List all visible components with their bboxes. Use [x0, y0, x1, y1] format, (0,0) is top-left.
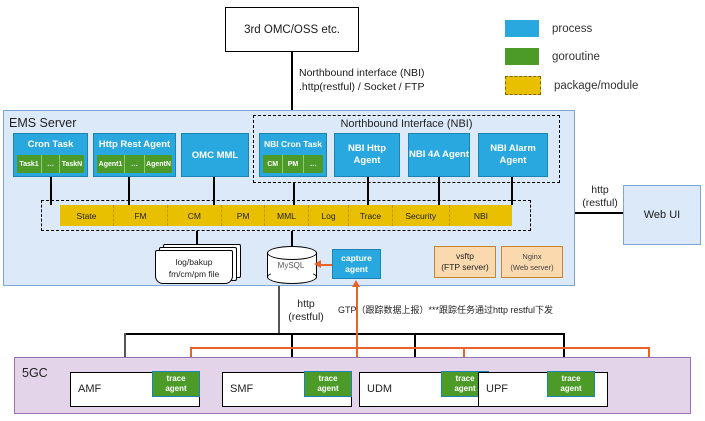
- gtp-note: GTP（跟踪数据上报）***跟踪任务通过http restful下发: [338, 303, 553, 316]
- capture-agent-line1: capture: [341, 253, 372, 264]
- module-state[interactable]: State: [60, 205, 114, 226]
- goroutine-agent1: Agent1: [97, 155, 125, 173]
- process-nbi-cron-task-label: NBI Cron Task: [260, 134, 326, 154]
- goroutine-agent-ellipsis: …: [125, 155, 145, 173]
- connector-nbi-trunk: [291, 52, 293, 111]
- nf-amf-label: AMF: [78, 383, 101, 395]
- external-omc-oss-box: 3rd OMC/OSS etc.: [225, 7, 359, 52]
- trace-agent-upf[interactable]: trace agent: [547, 371, 595, 397]
- external-omc-oss-label: 3rd OMC/OSS etc.: [244, 24, 340, 36]
- trace-agent-upf-line2: agent: [560, 384, 581, 394]
- nf-udm-label: UDM: [367, 383, 392, 395]
- module-nbi[interactable]: NBI: [450, 205, 512, 226]
- file-store-docs: log/bakup fm/cm/pm file: [155, 244, 241, 286]
- process-nbi-cron-task[interactable]: NBI Cron Task CM PM …: [259, 133, 327, 177]
- process-cron-task[interactable]: Cron Task Task1 … TaskN: [13, 133, 88, 177]
- goroutine-task-ellipsis: …: [42, 155, 60, 173]
- legend-swatch-goroutine-icon: [505, 48, 539, 65]
- goroutine-nbi-pm: PM: [283, 155, 303, 173]
- south-http-line2: (restful): [282, 311, 330, 324]
- database-label: MySQL: [267, 246, 315, 284]
- goroutine-agentn: AgentN: [145, 155, 172, 173]
- connector-http-bus: [124, 333, 564, 335]
- goroutine-taskn: TaskN: [60, 155, 84, 173]
- fivegc-title: 5GC: [22, 366, 48, 380]
- file-store-line1: log/bakup: [176, 256, 213, 268]
- module-bar: State FM CM PM MML Log Trace Security NB…: [60, 205, 512, 226]
- process-nbi-http-agent[interactable]: NBI Http Agent: [334, 133, 400, 177]
- trace-agent-amf-line2: agent: [165, 384, 186, 394]
- nf-upf-label: UPF: [486, 383, 508, 395]
- connector-http-trunk: [278, 286, 280, 334]
- module-log[interactable]: Log: [309, 205, 350, 226]
- process-nbi-4a-agent[interactable]: NBI 4A Agent: [408, 133, 470, 177]
- file-store-label: log/bakup fm/cm/pm file: [155, 253, 233, 283]
- legend-swatch-module-icon: [505, 76, 541, 95]
- server-nginx-line1: Nginx: [522, 251, 541, 262]
- south-http-label: http (restful): [282, 298, 330, 324]
- legend-item-process: process: [505, 20, 638, 37]
- process-nbi-alarm-agent-label: NBI Alarm Agent: [479, 143, 547, 167]
- nbi-note-line1: Northbound interface (NBI): [299, 66, 424, 80]
- goroutine-nbi-ellipsis: …: [304, 155, 323, 173]
- server-vsftp-line2: (FTP server): [441, 262, 489, 273]
- process-nbi-alarm-agent[interactable]: NBI Alarm Agent: [478, 133, 548, 177]
- process-capture-agent[interactable]: capture agent: [332, 249, 381, 279]
- process-nbi-4a-agent-label: NBI 4A Agent: [409, 149, 469, 161]
- connector-gtp-bus: [190, 347, 648, 349]
- trace-agent-smf-line2: agent: [317, 384, 338, 394]
- webui-link-line2: (restful): [578, 197, 622, 210]
- goroutine-nbi-cm: CM: [263, 155, 283, 173]
- nbi-group-title: Northbound Interface (NBI): [253, 116, 560, 131]
- arrow-capture-to-mysql-icon: [314, 260, 321, 268]
- webui-link-line1: http: [578, 184, 622, 197]
- nbi-note: Northbound interface (NBI) .http(restful…: [299, 66, 424, 94]
- connector-ems-to-webui: [575, 212, 623, 214]
- legend-item-module: package/module: [505, 76, 638, 95]
- legend-item-goroutine: goroutine: [505, 48, 638, 65]
- legend-label-goroutine: goroutine: [552, 51, 600, 63]
- ems-server-title: EMS Server: [9, 116, 76, 130]
- legend-swatch-process-icon: [505, 20, 539, 37]
- process-nbi-http-agent-label: NBI Http Agent: [335, 143, 399, 167]
- server-nginx-line2: (Web server): [510, 262, 553, 273]
- webui-link-label: http (restful): [578, 184, 622, 210]
- module-trace[interactable]: Trace: [349, 205, 392, 226]
- server-vsftp-line1: vsftp: [456, 251, 474, 262]
- trace-agent-udm-line2: agent: [454, 384, 475, 394]
- legend-label-module: package/module: [554, 80, 638, 92]
- module-cm[interactable]: CM: [168, 205, 222, 226]
- process-http-rest-agent[interactable]: Http Rest Agent Agent1 … AgentN: [93, 133, 176, 177]
- trace-agent-amf[interactable]: trace agent: [152, 371, 200, 397]
- module-security[interactable]: Security: [393, 205, 450, 226]
- webui-label: Web UI: [644, 209, 680, 221]
- legend: process goroutine package/module: [505, 20, 638, 95]
- file-store-line2: fm/cm/pm file: [169, 268, 220, 280]
- process-omc-mml[interactable]: OMC MML: [181, 133, 249, 177]
- trace-agent-upf-line1: trace: [561, 374, 580, 384]
- webui-box[interactable]: Web UI: [623, 185, 701, 245]
- nbi-note-line2: .http(restful) / Socket / FTP: [299, 80, 424, 94]
- trace-agent-amf-line1: trace: [166, 374, 185, 384]
- module-pm[interactable]: PM: [222, 205, 265, 226]
- trace-agent-smf[interactable]: trace agent: [304, 371, 352, 397]
- connector-modules-to-database: [291, 231, 293, 246]
- process-http-rest-agent-label: Http Rest Agent: [94, 134, 175, 154]
- goroutine-task1: Task1: [17, 155, 42, 173]
- trace-agent-udm-line1: trace: [455, 374, 474, 384]
- server-vsftp: vsftp (FTP server): [434, 246, 496, 278]
- legend-label-process: process: [552, 23, 592, 35]
- arrow-gtp-to-capture-icon: [352, 280, 360, 287]
- module-mml[interactable]: MML: [265, 205, 308, 226]
- south-http-line1: http: [282, 298, 330, 311]
- process-omc-mml-label: OMC MML: [192, 150, 238, 161]
- database-mysql: MySQL: [267, 246, 315, 284]
- capture-agent-line2: agent: [345, 264, 368, 275]
- server-nginx: Nginx (Web server): [501, 246, 563, 278]
- nf-smf-label: SMF: [230, 383, 253, 395]
- process-cron-task-label: Cron Task: [14, 134, 87, 154]
- module-fm[interactable]: FM: [114, 205, 168, 226]
- trace-agent-smf-line1: trace: [318, 374, 337, 384]
